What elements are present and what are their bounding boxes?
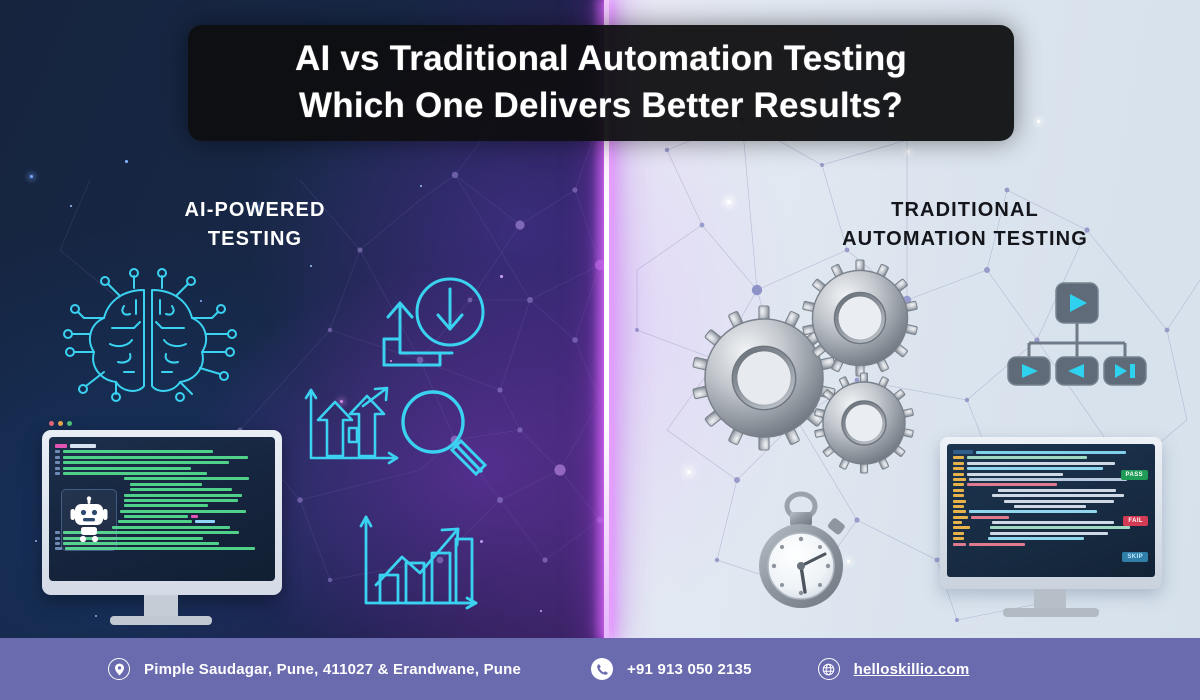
footer-address-item: Pimple Saudagar, Pune, 411027 & Erandwan…: [108, 658, 521, 680]
flow-node-rewind: [1056, 357, 1098, 385]
sparkle: [687, 470, 691, 474]
title-line-2: Which One Delivers Better Results?: [299, 83, 903, 130]
footer-phone-item[interactable]: +91 913 050 2135: [591, 658, 752, 680]
location-pin-icon: [108, 658, 130, 680]
phone-icon: [591, 658, 613, 680]
contact-footer: Pimple Saudagar, Pune, 411027 & Erandwan…: [0, 638, 1200, 700]
bar-chart-growth-icon: [358, 515, 480, 615]
monitor-bezel-left: [42, 430, 282, 595]
footer-phone-text: +91 913 050 2135: [627, 661, 752, 678]
window-controls: [49, 421, 72, 426]
monitor-bezel-right: PASS FAIL SKIP: [940, 437, 1162, 589]
particle: [480, 540, 483, 543]
traditional-panel-heading: TRADITIONAL AUTOMATION TESTING: [830, 196, 1100, 254]
particle: [125, 160, 128, 163]
footer-website-link[interactable]: helloskillio.com: [854, 661, 970, 678]
traditional-heading-line-1: TRADITIONAL: [830, 196, 1100, 225]
monitor-base-left: [110, 616, 212, 625]
code-editor-screen-left: [49, 437, 275, 581]
status-badge-pass: PASS: [1121, 470, 1149, 480]
flow-node-play-top: [1056, 283, 1098, 323]
page-title: AI vs Traditional Automation Testing Whi…: [188, 25, 1014, 141]
flow-node-pause: [1104, 357, 1146, 385]
sparkle: [1037, 120, 1040, 123]
particle: [310, 265, 312, 267]
monitor-base-right: [1003, 608, 1099, 617]
stopwatch-icon: [747, 492, 859, 612]
sparkle: [907, 150, 910, 153]
footer-address-text: Pimple Saudagar, Pune, 411027 & Erandwan…: [144, 661, 521, 678]
status-badge-fail: FAIL: [1123, 516, 1148, 526]
magnifier-icon: [395, 385, 490, 480]
upload-download-arrows-icon: [378, 277, 488, 369]
monitor-neck-right: [1034, 589, 1066, 610]
comparison-banner: PASS FAIL SKIP AI vs Traditional Automat…: [0, 0, 1200, 700]
title-line-1: AI vs Traditional Automation Testing: [295, 36, 907, 83]
globe-icon: [818, 658, 840, 680]
particle: [420, 185, 422, 187]
particle: [30, 175, 33, 178]
test-report-screen-right: PASS FAIL SKIP: [947, 444, 1155, 577]
maximize-icon[interactable]: [67, 421, 72, 426]
monitor-neck-left: [144, 595, 178, 618]
particle: [70, 205, 72, 207]
particle: [540, 610, 542, 612]
particle: [500, 275, 503, 278]
growth-arrows-icon: [305, 388, 405, 468]
sparkle: [727, 200, 731, 204]
particle: [95, 615, 97, 617]
minimize-icon[interactable]: [58, 421, 63, 426]
particle: [35, 540, 37, 542]
traditional-heading-line-2: AUTOMATION TESTING: [830, 225, 1100, 254]
gears-icon: [692, 258, 932, 483]
circuit-brain-icon: [60, 268, 240, 400]
ai-heading-line-1: AI-POWERED: [155, 196, 355, 225]
ai-panel-heading: AI-POWERED TESTING: [155, 196, 355, 254]
status-badge-skip: SKIP: [1122, 552, 1148, 562]
robot-icon: [61, 489, 117, 551]
footer-website-item[interactable]: helloskillio.com: [818, 658, 970, 680]
ai-heading-line-2: TESTING: [155, 225, 355, 254]
close-icon[interactable]: [49, 421, 54, 426]
flowchart-icon: [1002, 275, 1152, 387]
flow-node-play: [1008, 357, 1050, 385]
